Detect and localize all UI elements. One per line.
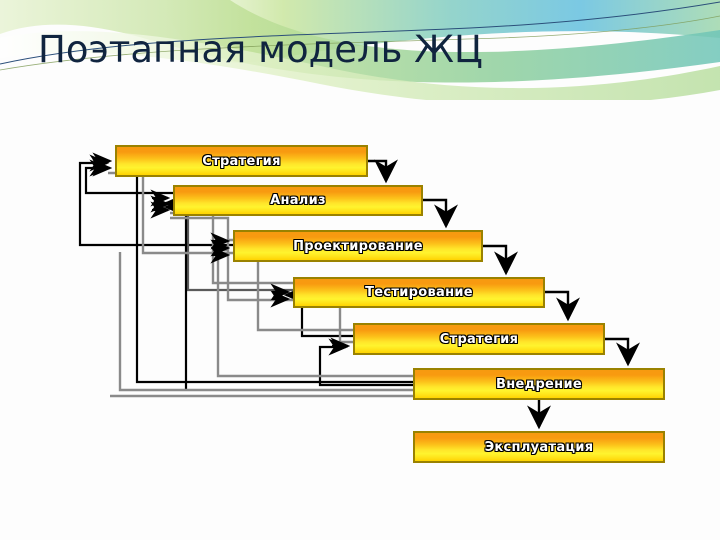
gray-s6-bottom-2	[120, 252, 413, 390]
stage-box-s2[interactable]: Анализ	[173, 185, 423, 216]
stage-label: Внедрение	[496, 377, 582, 392]
gray-s6-bottom-1	[218, 250, 413, 376]
waterfall-diagram: СтратегияАнализПроектированиеТестировани…	[0, 0, 720, 540]
feedback-trunk-s2	[166, 207, 186, 390]
forward-s5-s6	[605, 339, 628, 364]
stage-box-s7[interactable]: Эксплуатация	[413, 431, 665, 463]
forward-s4-s5	[545, 292, 568, 319]
stage-label: Проектирование	[293, 239, 423, 254]
arrowhead-cluster-s2	[152, 198, 168, 210]
stage-box-s3[interactable]: Проектирование	[233, 230, 483, 262]
stage-box-s5[interactable]: Стратегия	[353, 323, 605, 355]
stage-label: Стратегия	[440, 332, 518, 347]
stage-box-s4[interactable]: Тестирование	[293, 277, 545, 308]
forward-s3-s4	[483, 246, 506, 273]
arrowhead-cluster-s4	[272, 292, 288, 299]
stage-label: Эксплуатация	[485, 440, 594, 455]
stage-box-s6[interactable]: Внедрение	[413, 368, 665, 400]
stage-label: Тестирование	[365, 285, 473, 300]
forward-s1-s2	[368, 161, 386, 181]
stage-label: Стратегия	[202, 154, 280, 169]
slide-canvas: Поэтапная модель ЖЦ	[0, 0, 720, 540]
stage-box-s1[interactable]: Стратегия	[115, 145, 368, 177]
arrowhead-cluster-s1	[96, 161, 110, 168]
forward-s2-s3	[423, 200, 446, 226]
stage-label: Анализ	[270, 193, 326, 208]
